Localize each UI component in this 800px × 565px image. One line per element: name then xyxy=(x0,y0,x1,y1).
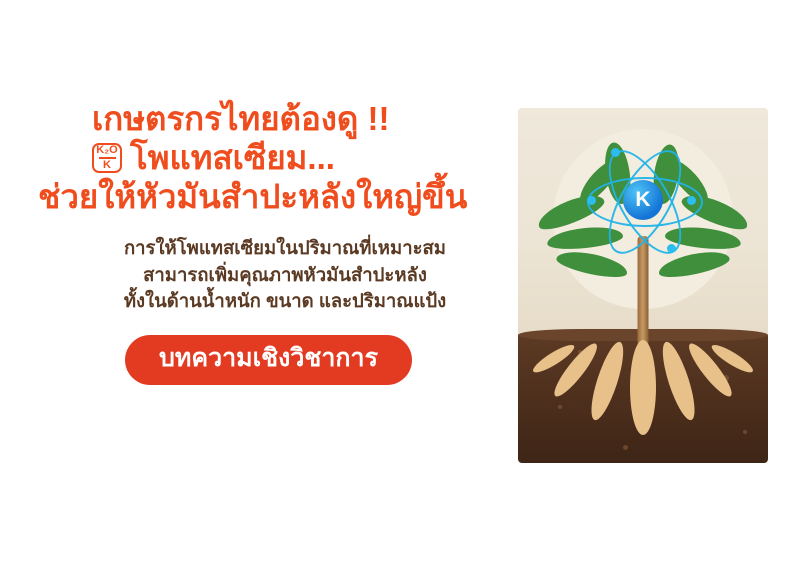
cta-container: บทความเชิงวิชาการ xyxy=(125,335,510,385)
atom-nucleus-label: K xyxy=(623,180,663,220)
cassava-potassium-illustration: K xyxy=(518,108,768,463)
subtext-block: การให้โพแทสเซียมในปริมาณที่เหมาะสม สามาร… xyxy=(70,235,500,315)
soil-speck xyxy=(558,405,562,409)
cassava-root xyxy=(630,340,656,435)
potassium-atom-icon: K xyxy=(583,140,703,260)
atom-electron xyxy=(587,196,596,205)
poster-root: เกษตรกรไทยต้องดู !! K₂O K โพแทสเซียม... … xyxy=(0,0,800,565)
poster-text-content: เกษตรกรไทยต้องดู !! K₂O K โพแทสเซียม... … xyxy=(0,100,510,385)
atom-electron xyxy=(611,148,620,157)
headline-line-3: ช่วยให้หัวมันสำปะหลังใหญ่ขึ้น xyxy=(38,178,510,217)
headline-line-2: โพแทสเซียม... xyxy=(130,139,335,178)
headline-block: เกษตรกรไทยต้องดู !! K₂O K โพแทสเซียม... … xyxy=(30,100,510,217)
subtext-line-3: ทั้งในด้านน้ำหนัก ขนาด และปริมาณแป้ง xyxy=(70,288,500,315)
badge-bottom-label: K xyxy=(103,160,111,171)
atom-electron xyxy=(687,196,696,205)
subtext-line-2: สามารถเพิ่มคุณภาพหัวมันสำปะหลัง xyxy=(70,262,500,289)
headline-line-1: เกษตรกรไทยต้องดู !! xyxy=(92,100,510,139)
headline-line-2-row: K₂O K โพแทสเซียม... xyxy=(92,139,510,178)
badge-top-label: K₂O xyxy=(96,145,117,156)
potassium-badge-icon: K₂O K xyxy=(92,143,122,173)
subtext-line-1: การให้โพแทสเซียมในปริมาณที่เหมาะสม xyxy=(70,235,500,262)
soil-speck xyxy=(623,445,628,450)
atom-electron xyxy=(667,244,676,253)
soil-speck xyxy=(743,430,747,434)
academic-article-button[interactable]: บทความเชิงวิชาการ xyxy=(125,335,412,385)
